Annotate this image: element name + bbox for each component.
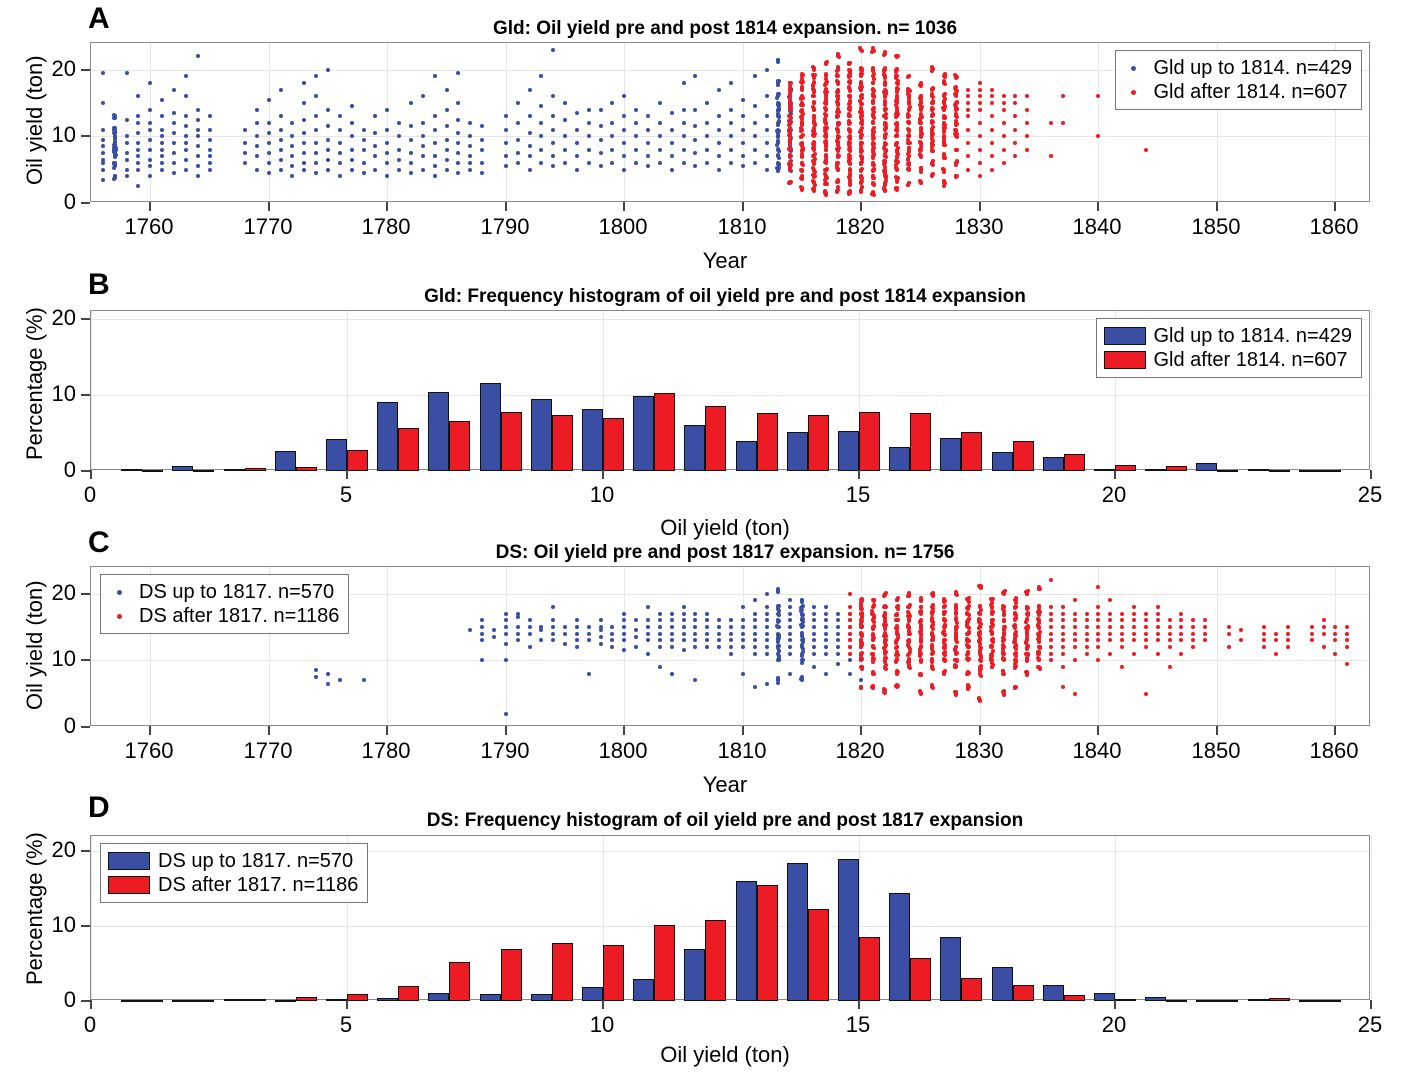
- scatter-point: [302, 161, 306, 165]
- scatter-point: [955, 100, 959, 104]
- scatter-point: [812, 652, 816, 656]
- scatter-point: [871, 627, 875, 631]
- scatter-point: [919, 170, 923, 174]
- scatter-point: [516, 121, 520, 125]
- scatter-point: [907, 619, 911, 623]
- scatter-point: [433, 141, 437, 145]
- scatter-point: [824, 148, 828, 152]
- scatter-point: [670, 638, 674, 642]
- scatter-point: [931, 95, 935, 99]
- scatter-point: [326, 672, 330, 676]
- histogram-bar: [552, 415, 573, 471]
- scatter-point: [528, 154, 532, 158]
- scatter-point: [966, 168, 970, 172]
- scatter-point: [836, 662, 840, 666]
- histogram-bar: [501, 949, 522, 1001]
- scatter-point: [563, 148, 567, 152]
- scatter-point: [338, 678, 342, 682]
- y-axis-tick-label: 10: [30, 381, 76, 407]
- x-axis-tick-label: 0: [84, 1012, 96, 1038]
- scatter-point: [1096, 658, 1100, 662]
- scatter-point: [693, 151, 697, 155]
- y-axis-tick: [81, 850, 90, 852]
- scatter-point: [1002, 121, 1006, 125]
- scatter-point: [979, 608, 983, 612]
- scatter-point: [551, 154, 555, 158]
- scatter-point: [528, 131, 532, 135]
- scatter-point: [1073, 625, 1077, 629]
- histogram-bar: [1269, 470, 1290, 472]
- scatter-point: [113, 116, 117, 120]
- scatter-point: [101, 128, 105, 132]
- scatter-point: [871, 156, 875, 160]
- scatter-point: [765, 592, 769, 596]
- scatter-point: [290, 144, 294, 148]
- scatter-point: [1013, 154, 1017, 158]
- scatter-point: [551, 164, 555, 168]
- scatter-point: [1262, 632, 1266, 636]
- scatter-point: [1120, 618, 1124, 622]
- scatter-point: [1168, 632, 1172, 636]
- scatter-point: [907, 167, 911, 171]
- scatter-point: [516, 138, 520, 142]
- histogram-bar: [654, 925, 675, 1002]
- x-axis-tick-label: 25: [1358, 482, 1382, 508]
- x-axis-tick: [268, 726, 270, 735]
- scatter-point: [267, 141, 271, 145]
- scatter-point: [954, 693, 958, 697]
- histogram-bar: [1217, 470, 1238, 472]
- x-axis-tick: [1114, 1000, 1116, 1009]
- scatter-point: [350, 121, 354, 125]
- scatter-point: [208, 114, 212, 118]
- x-axis-tick: [979, 726, 981, 735]
- scatter-point: [788, 612, 792, 616]
- scatter-point: [480, 171, 484, 175]
- scatter-point: [896, 607, 900, 611]
- scatter-point: [1345, 638, 1349, 642]
- scatter-point: [990, 154, 994, 158]
- scatter-point: [812, 129, 816, 133]
- scatter-point: [101, 151, 105, 155]
- scatter-point: [882, 614, 886, 618]
- scatter-point: [362, 678, 366, 682]
- histogram-bar: [603, 418, 624, 471]
- scatter-point: [729, 121, 733, 125]
- scatter-point: [765, 618, 769, 622]
- scatter-point: [682, 618, 686, 622]
- scatter-point: [622, 94, 626, 98]
- scatter-point: [362, 148, 366, 152]
- scatter-point: [504, 612, 508, 616]
- scatter-point: [1345, 645, 1349, 649]
- scatter-point: [1333, 638, 1337, 642]
- scatter-point: [610, 645, 614, 649]
- scatter-point: [753, 645, 757, 649]
- histogram-bar: [428, 392, 449, 471]
- scatter-point: [942, 136, 946, 140]
- scatter-point: [314, 94, 318, 98]
- scatter-point: [860, 72, 864, 76]
- scatter-point: [243, 151, 247, 155]
- scatter-point: [433, 154, 437, 158]
- scatter-point: [504, 625, 508, 629]
- legend-a: Gld up to 1814. n=429Gld after 1814. n=6…: [1115, 50, 1363, 110]
- scatter-point: [990, 88, 994, 92]
- scatter-point: [1156, 605, 1160, 609]
- scatter-point: [622, 618, 626, 622]
- histogram-bar: [377, 998, 398, 1001]
- scatter-point: [883, 620, 887, 624]
- histogram-bar: [1115, 999, 1136, 1001]
- scatter-point: [931, 107, 935, 111]
- scatter-point: [693, 645, 697, 649]
- scatter-point: [682, 638, 686, 642]
- scatter-point: [883, 641, 887, 645]
- scatter-point: [1120, 638, 1124, 642]
- histogram-bar: [552, 943, 573, 1001]
- scatter-point: [836, 652, 840, 656]
- x-axis-tick-label: 5: [340, 1012, 352, 1038]
- scatter-point: [539, 74, 543, 78]
- histogram-bar: [787, 432, 808, 471]
- figure-root: A Gld: Oil yield pre and post 1814 expan…: [0, 0, 1417, 1085]
- scatter-point: [824, 97, 828, 101]
- scatter-point: [1049, 605, 1053, 609]
- scatter-point: [978, 148, 982, 152]
- gridline-vertical: [1335, 567, 1336, 725]
- scatter-point: [1108, 598, 1112, 602]
- scatter-point: [1073, 638, 1077, 642]
- scatter-point: [835, 69, 839, 73]
- scatter-point: [1120, 665, 1124, 669]
- scatter-point: [208, 138, 212, 142]
- scatter-point: [800, 608, 804, 612]
- scatter-point: [125, 151, 129, 155]
- scatter-point: [290, 164, 294, 168]
- scatter-point: [884, 155, 888, 159]
- scatter-point: [587, 625, 591, 629]
- scatter-point: [955, 160, 959, 164]
- scatter-point: [101, 144, 105, 148]
- scatter-point: [326, 68, 330, 72]
- scatter-point: [847, 68, 851, 72]
- scatter-point: [848, 618, 852, 622]
- scatter-point: [978, 121, 982, 125]
- scatter-point: [409, 171, 413, 175]
- scatter-point: [409, 138, 413, 142]
- scatter-point: [314, 128, 318, 132]
- scatter-point: [634, 635, 638, 639]
- scatter-point: [504, 642, 508, 646]
- scatter-point: [125, 168, 129, 172]
- scatter-point: [848, 183, 852, 187]
- scatter-point: [326, 158, 330, 162]
- histogram-bar: [910, 958, 931, 1001]
- scatter-point: [847, 147, 851, 151]
- scatter-point: [184, 114, 188, 118]
- scatter-point: [551, 48, 555, 52]
- scatter-point: [847, 119, 851, 123]
- gridline-horizontal: [91, 395, 1369, 396]
- scatter-point: [896, 176, 900, 180]
- scatter-point: [326, 168, 330, 172]
- scatter-point: [1073, 618, 1077, 622]
- histogram-bar: [224, 469, 245, 471]
- scatter-point: [717, 625, 721, 629]
- scatter-point: [954, 651, 958, 655]
- scatter-point: [373, 131, 377, 135]
- scatter-point: [160, 98, 164, 102]
- scatter-point: [1156, 625, 1160, 629]
- scatter-point: [658, 665, 662, 669]
- scatter-point: [1132, 632, 1136, 636]
- scatter-point: [906, 623, 910, 627]
- scatter-point: [148, 81, 152, 85]
- scatter-point: [729, 81, 733, 85]
- y-axis-tick-label: 10: [30, 646, 76, 672]
- scatter-point: [836, 179, 840, 183]
- scatter-point: [148, 138, 152, 142]
- scatter-point: [622, 128, 626, 132]
- scatter-point: [765, 128, 769, 132]
- scatter-point: [279, 168, 283, 172]
- gridline-vertical: [624, 43, 625, 201]
- histogram-bar: [910, 413, 931, 471]
- scatter-point: [907, 632, 911, 636]
- scatter-point: [693, 612, 697, 616]
- scatter-point: [729, 638, 733, 642]
- scatter-point: [682, 625, 686, 629]
- scatter-point: [872, 95, 876, 99]
- gridline-vertical: [91, 836, 92, 999]
- scatter-point: [622, 114, 626, 118]
- scatter-point: [765, 114, 769, 118]
- scatter-point: [1013, 114, 1017, 118]
- scatter-point: [836, 185, 840, 189]
- scatter-point: [895, 657, 899, 661]
- scatter-point: [575, 638, 579, 642]
- scatter-point: [1013, 666, 1017, 670]
- y-axis-tick: [81, 318, 90, 320]
- scatter-point: [918, 148, 922, 152]
- scatter-point: [741, 154, 745, 158]
- scatter-point: [859, 685, 863, 689]
- scatter-point: [516, 612, 520, 616]
- scatter-point: [599, 642, 603, 646]
- scatter-point: [966, 94, 970, 98]
- scatter-point: [504, 114, 508, 118]
- scatter-point: [883, 52, 887, 56]
- scatter-point: [777, 633, 781, 637]
- scatter-point: [883, 182, 887, 186]
- legend-color-swatch: [108, 876, 150, 894]
- scatter-point: [824, 155, 828, 159]
- scatter-point: [908, 614, 912, 618]
- histogram-bar: [859, 937, 880, 1001]
- scatter-point: [409, 124, 413, 128]
- scatter-point: [931, 149, 935, 153]
- scatter-point: [1179, 632, 1183, 636]
- scatter-point: [1049, 658, 1053, 662]
- scatter-point: [551, 618, 555, 622]
- scatter-point: [539, 161, 543, 165]
- legend-label: DS after 1817. n=1186: [158, 875, 358, 895]
- x-axis-tick-label: 1800: [599, 214, 648, 240]
- scatter-point: [1120, 625, 1124, 629]
- scatter-point: [872, 77, 876, 81]
- scatter-point: [528, 88, 532, 92]
- scatter-point: [777, 613, 781, 617]
- scatter-point: [895, 86, 899, 90]
- scatter-point: [991, 618, 995, 622]
- scatter-point: [587, 632, 591, 636]
- legend-entry: Gld up to 1814. n=429: [1104, 324, 1353, 348]
- scatter-point: [800, 142, 804, 146]
- x-axis-tick: [1114, 470, 1116, 479]
- scatter-point: [1108, 632, 1112, 636]
- histogram-bar: [736, 441, 757, 471]
- scatter-point: [895, 109, 899, 113]
- x-axis-tick: [858, 470, 860, 479]
- scatter-point: [480, 618, 484, 622]
- scatter-point: [445, 158, 449, 162]
- scatter-point: [255, 121, 259, 125]
- scatter-point: [1014, 630, 1018, 634]
- scatter-point: [872, 49, 876, 53]
- scatter-point: [575, 632, 579, 636]
- scatter-point: [836, 645, 840, 649]
- scatter-point: [824, 652, 828, 656]
- scatter-point: [942, 657, 946, 661]
- scatter-point: [967, 685, 971, 689]
- histogram-bar: [684, 425, 705, 471]
- scatter-point: [777, 654, 781, 658]
- histogram-bar: [428, 993, 449, 1001]
- scatter-point: [955, 659, 959, 663]
- scatter-point: [967, 657, 971, 661]
- scatter-point: [350, 134, 354, 138]
- scatter-point: [1013, 686, 1017, 690]
- scatter-point: [741, 98, 745, 102]
- scatter-point: [468, 628, 472, 632]
- scatter-point: [658, 161, 662, 165]
- y-axis-tick-label: 20: [30, 305, 76, 331]
- scatter-point: [136, 94, 140, 98]
- scatter-point: [954, 645, 958, 649]
- scatter-point: [835, 161, 839, 165]
- scatter-point: [480, 638, 484, 642]
- scatter-point: [622, 154, 626, 158]
- scatter-point: [433, 164, 437, 168]
- scatter-point: [979, 674, 983, 678]
- scatter-point: [302, 168, 306, 172]
- scatter-point: [800, 654, 804, 658]
- scatter-point: [1025, 657, 1029, 661]
- scatter-point: [882, 687, 886, 691]
- histogram-bar: [1094, 993, 1115, 1001]
- histogram-bar: [172, 1000, 193, 1002]
- scatter-point: [670, 141, 674, 145]
- scatter-point: [290, 174, 294, 178]
- histogram-bar: [757, 885, 778, 1001]
- scatter-point: [729, 645, 733, 649]
- scatter-point: [350, 158, 354, 162]
- scatter-point: [812, 612, 816, 616]
- scatter-point: [670, 111, 674, 115]
- scatter-point: [990, 141, 994, 145]
- x-axis-tick-label: 1830: [955, 214, 1004, 240]
- scatter-point: [800, 117, 804, 121]
- scatter-point: [990, 128, 994, 132]
- scatter-point: [456, 101, 460, 105]
- scatter-point: [682, 161, 686, 165]
- histogram-bar: [121, 469, 142, 471]
- scatter-point: [587, 148, 591, 152]
- x-axis-tick-label: 10: [590, 1012, 614, 1038]
- panel-b-title: Gld: Frequency histogram of oil yield pr…: [80, 286, 1370, 308]
- scatter-point: [599, 138, 603, 142]
- scatter-point: [824, 672, 828, 676]
- scatter-point: [919, 96, 923, 100]
- scatter-point: [979, 654, 983, 658]
- scatter-point: [978, 94, 982, 98]
- scatter-point: [1085, 638, 1089, 642]
- scatter-point: [741, 114, 745, 118]
- scatter-point: [373, 144, 377, 148]
- scatter-point: [539, 148, 543, 152]
- scatter-point: [717, 141, 721, 145]
- y-axis-tick: [81, 470, 90, 472]
- scatter-point: [942, 116, 946, 120]
- histogram-bar: [889, 893, 910, 1001]
- scatter-point: [267, 121, 271, 125]
- scatter-point: [883, 666, 887, 670]
- scatter-point: [918, 690, 922, 694]
- scatter-point: [800, 169, 804, 173]
- scatter-point: [943, 104, 947, 108]
- scatter-point: [895, 613, 899, 617]
- scatter-point: [848, 645, 852, 649]
- scatter-point: [136, 148, 140, 152]
- scatter-point: [172, 141, 176, 145]
- scatter-point: [1061, 612, 1065, 616]
- scatter-point: [1001, 672, 1005, 676]
- scatter-point: [196, 154, 200, 158]
- scatter-point: [705, 121, 709, 125]
- scatter-point: [883, 121, 887, 125]
- scatter-point: [824, 77, 828, 81]
- scatter-point: [848, 130, 852, 134]
- histogram-bar: [1166, 1000, 1187, 1002]
- scatter-point: [1096, 612, 1100, 616]
- x-axis-tick: [386, 202, 388, 211]
- gridline-vertical: [91, 311, 92, 469]
- histogram-bar: [1248, 469, 1269, 471]
- scatter-point: [385, 128, 389, 132]
- scatter-point: [670, 168, 674, 172]
- histogram-bar: [654, 393, 675, 471]
- scatter-point: [753, 74, 757, 78]
- scatter-point: [1025, 134, 1029, 138]
- x-axis-tick-label: 1760: [125, 738, 174, 764]
- scatter-point: [1132, 612, 1136, 616]
- histogram-bar: [940, 937, 961, 1002]
- scatter-point: [409, 161, 413, 165]
- scatter-point: [824, 632, 828, 636]
- x-axis-tick-label: 1860: [1310, 738, 1359, 764]
- histogram-bar: [838, 859, 859, 1002]
